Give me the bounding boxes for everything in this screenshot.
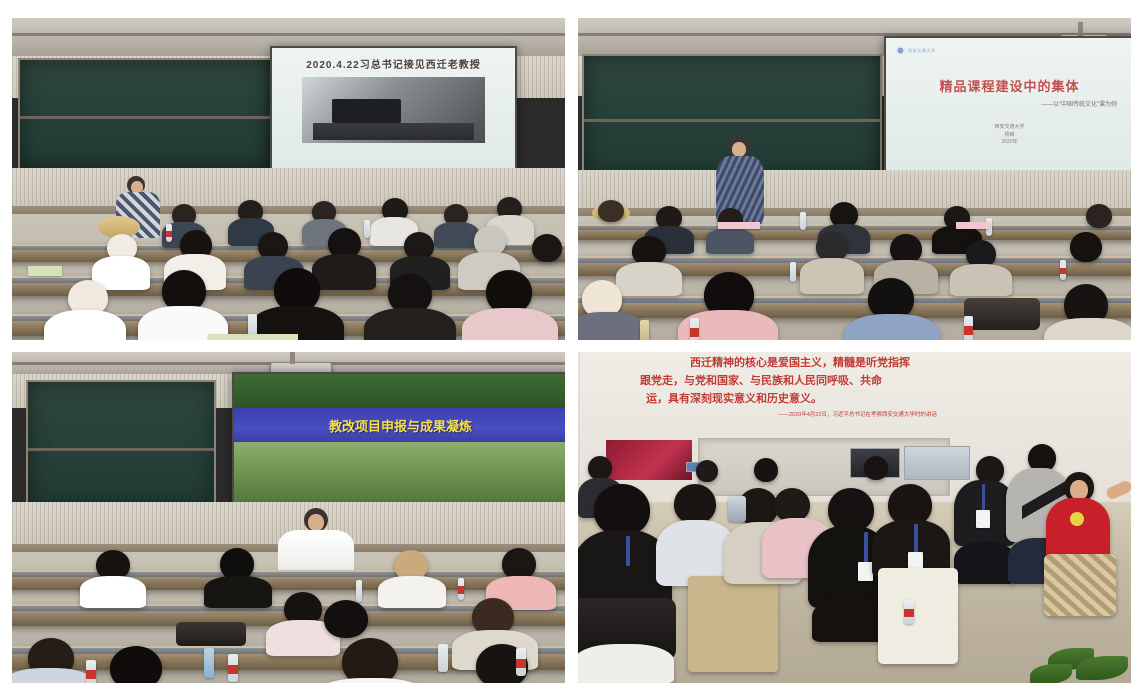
audience-torso [706, 228, 754, 254]
logo-mark-icon [896, 46, 905, 55]
water-bottle [1060, 260, 1066, 280]
audience-head [342, 638, 398, 683]
lanyard [864, 532, 868, 564]
audience-head [110, 646, 162, 683]
photo-bottom-right: 西迁精神的核心是爱国主义，精髓是听党指挥 跟党走，与党和国家、与民族和人民同呼吸… [578, 352, 1131, 683]
water-bottle [438, 644, 448, 672]
audience-torso [800, 258, 864, 294]
slide-treeline [234, 374, 565, 408]
slide-subtitle: ——以“中国传统文化”课为例 [1041, 99, 1117, 108]
wall-quote-line-3: 运，具有深刻现实意义和历史意义。 [646, 392, 822, 408]
water-bottle [86, 660, 96, 683]
presenter-face [732, 142, 746, 157]
audience-torso [80, 576, 146, 608]
water-bottle [800, 212, 806, 230]
visitor-head [864, 456, 888, 480]
photo-top-right: 西安交通大学 精品课程建设中的集体 ——以“中国传统文化”课为例 西安交通大学 … [578, 18, 1131, 340]
desk-paper [28, 266, 62, 276]
water-bottle [790, 262, 796, 282]
slide-title: 教改项目申报与成果凝炼 [329, 416, 472, 435]
visitor-skirt [688, 576, 778, 672]
audience-head [1086, 204, 1112, 228]
visitor-legs [954, 542, 1016, 584]
water-bottle [516, 648, 526, 676]
visitor-skirt [578, 644, 674, 683]
slide-title-band: 教改项目申报与成果凝炼 [234, 408, 565, 442]
visitor-head [588, 456, 612, 480]
visitor-shorts [812, 598, 888, 642]
water-bottle [166, 224, 172, 242]
wall-quote-attribution: ——2020年4月22日，习近平总书记在考察西安交通大学时的讲话 [778, 410, 937, 418]
audience-torso [44, 310, 126, 340]
audience-torso [204, 576, 272, 608]
lanyard [982, 484, 985, 512]
lanyard [626, 536, 630, 566]
visitor-head [774, 488, 810, 522]
visitor-head [594, 484, 650, 536]
audience-head [598, 200, 624, 222]
water-bottle [690, 318, 699, 340]
slide-title: 精品课程建设中的集体 [939, 76, 1079, 95]
projector-screen: 2020.4.22习总书记接见西迁老教授 [270, 46, 517, 178]
audience-torso [1044, 318, 1131, 340]
water-bottle [904, 600, 914, 624]
water-bottle [356, 580, 362, 602]
water-bottle [228, 654, 238, 682]
slide-presenter: 杨琳 [994, 132, 1024, 140]
water-bottle [458, 578, 464, 600]
audience-torso [950, 264, 1012, 296]
audience-torso [364, 308, 456, 340]
university-logo: 西安交通大学 [896, 46, 936, 55]
water-bottle [964, 316, 973, 340]
visitor-head [696, 460, 718, 482]
guide-face [1070, 480, 1088, 500]
desk-paper [208, 334, 298, 340]
guide-skirt [1044, 554, 1116, 616]
audience-torso [844, 314, 940, 340]
backpack [176, 622, 246, 646]
water-bottle [640, 320, 649, 340]
exhibit-poster [606, 440, 692, 480]
audience-torso [462, 308, 558, 340]
blackboard [18, 58, 272, 170]
slide-embedded-photo [302, 77, 484, 143]
wall-quote-line-2: 跟党走，与党和国家、与民族和人民同呼吸、共命 [640, 374, 882, 390]
visitor-badge [858, 562, 873, 581]
blackboard [26, 380, 216, 510]
audience-head [324, 600, 368, 638]
water-bottle [364, 220, 370, 238]
logo-text: 西安交通大学 [908, 48, 936, 54]
projector-arm [290, 352, 295, 364]
audience-head [532, 234, 562, 262]
smartphone [728, 496, 746, 522]
visitor-badge [976, 510, 990, 528]
wall-quote-line-1: 西迁精神的核心是爱国主义，精髓是听党指挥 [690, 356, 910, 372]
photo-bottom-left: 教改项目申报与成果凝炼 [12, 352, 565, 683]
desk-paper [956, 222, 990, 229]
audience-torso [378, 576, 446, 608]
audience-head [1070, 232, 1102, 262]
slide-organization: 西安交通大学 [994, 124, 1024, 132]
photo-top-left: 2020.4.22习总书记接见西迁老教授 [12, 18, 565, 340]
presenter-face [308, 514, 324, 531]
lanyard [914, 524, 918, 554]
audience-torso [616, 262, 682, 296]
exhibit-panel [904, 446, 970, 480]
photo-grid-page: 2020.4.22习总书记接见西迁老教授 [0, 0, 1143, 698]
audience-torso [434, 222, 479, 248]
projector-arm [1078, 22, 1083, 36]
projector-screen: 教改项目申报与成果凝炼 [232, 372, 565, 508]
projector-screen: 西安交通大学 精品课程建设中的集体 ——以“中国传统文化”课为例 西安交通大学 … [884, 36, 1131, 180]
visitor-head [754, 458, 778, 482]
lower-wall-panel [12, 168, 565, 208]
slide-landscape [234, 442, 565, 506]
slide-title: 2020.4.22习总书记接见西迁老教授 [306, 56, 481, 71]
water-bottle [204, 648, 214, 678]
desk-paper [718, 222, 760, 229]
audience-torso [312, 254, 376, 290]
guide-vest [1046, 498, 1110, 560]
visitor-head [674, 484, 716, 524]
guide-emblem [1070, 512, 1084, 526]
visitor-overalls [878, 568, 958, 664]
slide-year: 2020年 [994, 139, 1024, 147]
backpack [964, 298, 1040, 330]
desk-row [578, 296, 1131, 318]
